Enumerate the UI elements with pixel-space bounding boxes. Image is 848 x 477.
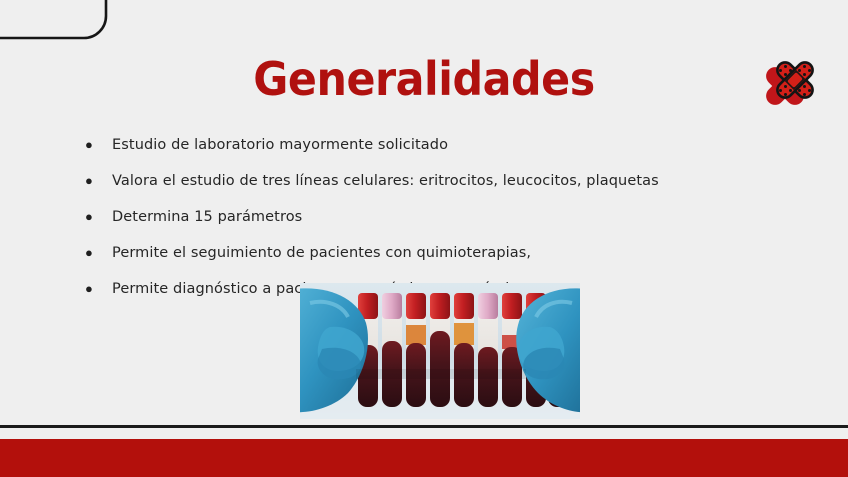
page-title: Generalidades [30,52,819,106]
slide: Generalidades [0,0,848,477]
list-item: ● Valora el estudio de tres líneas celul… [82,163,782,199]
list-item-label: Estudio de laboratorio mayormente solici… [112,127,782,163]
bullet-dot-icon: ● [82,235,112,271]
list-item-label: Valora el estudio de tres líneas celular… [112,163,782,199]
bullet-dot-icon: ● [82,127,112,163]
bullet-dot-icon: ● [82,199,112,235]
blood-sample-tubes-photo [300,283,580,419]
corner-rule-decoration [0,0,110,40]
list-item: ● Estudio de laboratorio mayormente soli… [82,127,782,163]
bullet-list: ● Estudio de laboratorio mayormente soli… [82,127,782,307]
list-item: ● Permite el seguimiento de pacientes co… [82,235,782,271]
list-item-label: Determina 15 parámetros [112,199,782,235]
bottom-color-band [0,439,848,477]
bullet-dot-icon: ● [82,163,112,199]
list-item: ● Determina 15 parámetros [82,199,782,235]
crossed-bandages-icon [762,52,824,112]
bottom-divider-rule [0,425,848,428]
bullet-dot-icon: ● [82,271,112,307]
list-item-label: Permite el seguimiento de pacientes con … [112,235,782,271]
